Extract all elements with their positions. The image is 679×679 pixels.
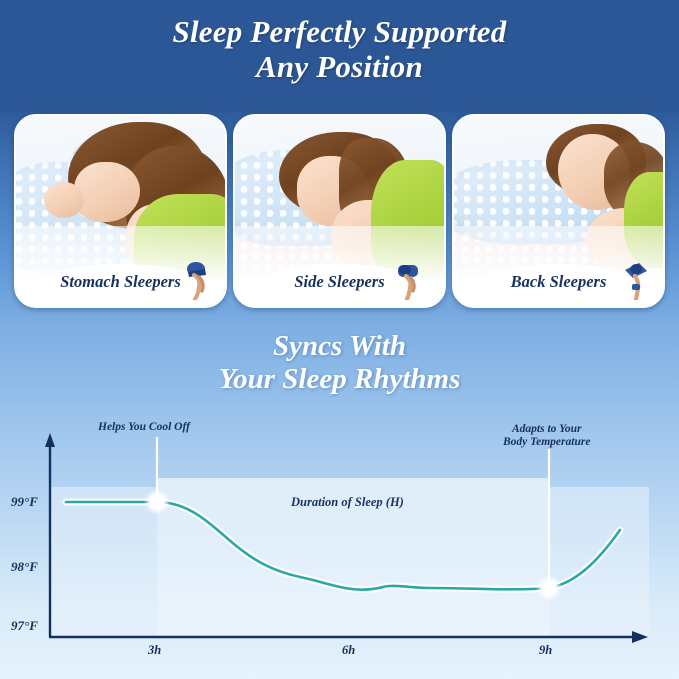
duration-of-sleep-label: Duration of Sleep (H) bbox=[291, 495, 404, 510]
annotation-adapts-line2: Body Temperature bbox=[503, 436, 590, 449]
card-side-sleepers[interactable]: Side Sleepers bbox=[233, 114, 446, 308]
y-tick-label-97: 97°F bbox=[11, 618, 38, 634]
subtitle-line2: Your Sleep Rhythms bbox=[0, 363, 679, 396]
side-sleeper-icon bbox=[396, 260, 422, 300]
y-axis-arrow-icon bbox=[45, 433, 55, 447]
chart-svg bbox=[0, 415, 679, 679]
y-tick-label-98: 98°F bbox=[11, 559, 38, 575]
section-title: Syncs With Your Sleep Rhythms bbox=[0, 330, 679, 396]
infographic-page: Sleep Perfectly Supported Any Position S… bbox=[0, 0, 679, 679]
x-tick-label-3h: 3h bbox=[148, 643, 161, 658]
marker-cool-off[interactable] bbox=[151, 496, 164, 509]
y-tick-label-99: 99°F bbox=[11, 494, 38, 510]
card-stomach-sleepers[interactable]: Stomach Sleepers bbox=[14, 114, 227, 308]
marker-adapts[interactable] bbox=[543, 582, 556, 595]
hero-title-line1: Sleep Perfectly Supported bbox=[173, 14, 507, 49]
x-tick-label-6h: 6h bbox=[342, 643, 355, 658]
annotation-cool-off: Helps You Cool Off bbox=[98, 421, 190, 434]
back-sleeper-icon bbox=[623, 260, 649, 300]
subtitle-line1: Syncs With bbox=[273, 330, 406, 362]
chart-shade-right bbox=[549, 487, 649, 637]
annotation-adapts-line1: Adapts to Your bbox=[503, 423, 590, 436]
annotation-adapts: Adapts to Your Body Temperature bbox=[503, 423, 590, 449]
hero-title-line2: Any Position bbox=[0, 49, 679, 84]
sleep-position-cards: Stomach Sleepers Side Slee bbox=[14, 114, 665, 304]
card-back-sleepers[interactable]: Back Sleepers bbox=[452, 114, 665, 308]
page-title: Sleep Perfectly Supported Any Position bbox=[0, 14, 679, 84]
chart-shade-left bbox=[50, 487, 157, 637]
sleep-temperature-chart: Helps You Cool Off Adapts to Your Body T… bbox=[0, 415, 679, 679]
x-tick-label-9h: 9h bbox=[539, 643, 552, 658]
stomach-sleeper-icon bbox=[185, 260, 211, 300]
